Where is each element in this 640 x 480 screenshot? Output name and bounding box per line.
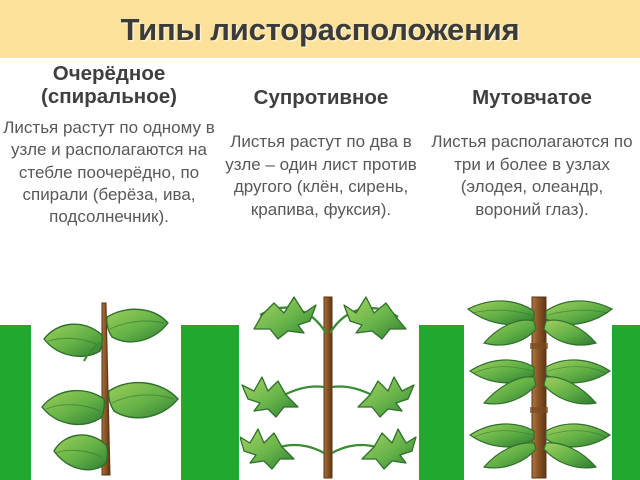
green-bar-4 (612, 325, 640, 480)
column-opposite-heading: Супротивное (218, 86, 424, 109)
green-bar-3 (419, 325, 464, 480)
green-bar-1 (0, 325, 31, 480)
whorled-leaf-arrangement-plant (466, 295, 614, 480)
column-whorled: Мутовчатое Листья располагаются по три и… (426, 62, 638, 221)
alternate-leaf-arrangement-plant (32, 295, 182, 480)
column-alternate-heading-line2: (спиральное) (2, 85, 216, 108)
title-banner: Типы листорасположения (0, 0, 640, 58)
column-whorled-description: Листья располагаются по три и более в уз… (426, 131, 638, 221)
column-alternate: Очерёдное (спиральное) Листья растут по … (2, 62, 216, 229)
column-whorled-heading: Мутовчатое (426, 86, 638, 109)
column-alternate-heading: Очерёдное (спиральное) (2, 62, 216, 109)
column-alternate-description: Листья растут по одному в узле и распола… (2, 117, 216, 229)
column-opposite: Супротивное Листья растут по два в узле … (218, 62, 424, 221)
green-bar-2 (181, 325, 239, 480)
column-alternate-heading-line1: Очерёдное (2, 62, 216, 85)
opposite-leaf-arrangement-plant (240, 295, 420, 480)
column-opposite-description: Листья растут по два в узле – один лист … (218, 131, 424, 221)
slide-canvas: Типы листорасположения Очерёдное (спирал… (0, 0, 640, 480)
page-title: Типы листорасположения (121, 14, 520, 45)
